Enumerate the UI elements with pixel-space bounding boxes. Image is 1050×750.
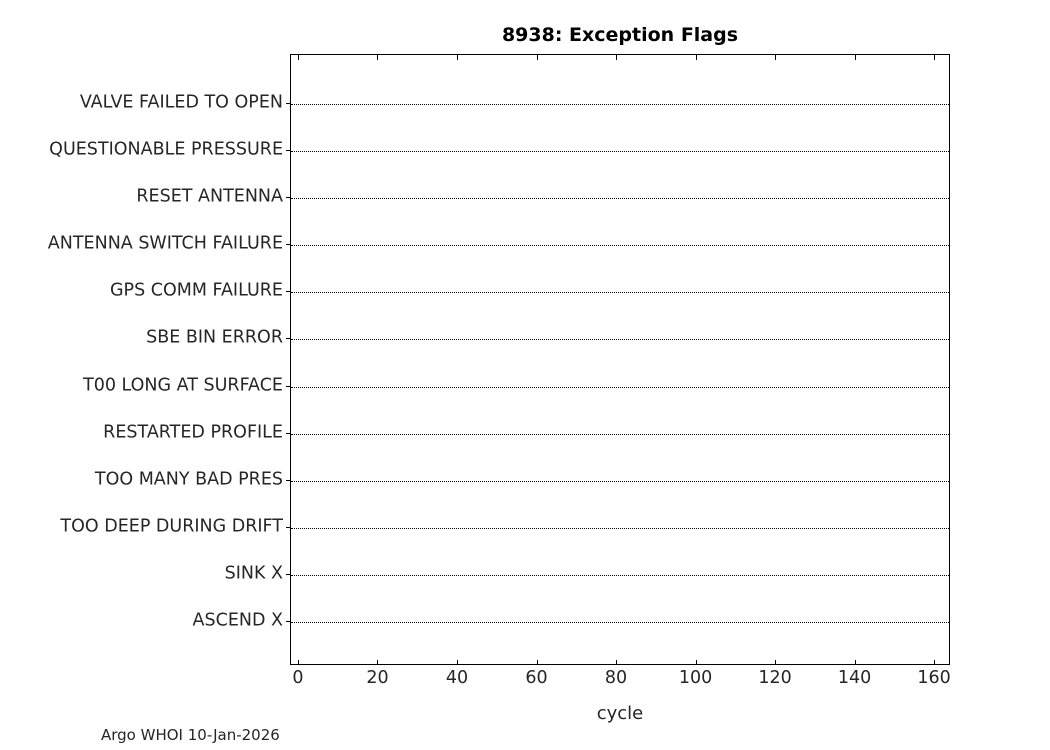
y-axis-tick-mark [286, 197, 290, 198]
y-axis-tick-label: TOO DEEP DURING DRIFT [60, 518, 283, 536]
y-axis-tick-mark [286, 480, 290, 481]
x-axis-tick-label: 80 [605, 670, 627, 688]
x-axis-tick-label: 140 [838, 670, 871, 688]
y-axis-tick-mark [286, 244, 290, 245]
gridline [291, 481, 949, 482]
figure-canvas: 8938: Exception Flags VALVE FAILED TO OP… [0, 0, 1050, 750]
x-axis-tick-mark [934, 660, 935, 665]
gridline [291, 104, 949, 105]
y-axis-tick-label: QUESTIONABLE PRESSURE [49, 141, 283, 159]
y-axis-tick-label: ASCEND X [193, 612, 283, 630]
x-axis-tick-mark [298, 660, 299, 665]
y-axis-tick-mark [286, 527, 290, 528]
x-axis-title: cycle [290, 703, 950, 724]
x-axis-tick-mark [457, 660, 458, 665]
chart-title: 8938: Exception Flags [290, 24, 950, 46]
y-axis-tick-mark [286, 574, 290, 575]
x-axis-tick-mark [855, 660, 856, 665]
x-axis-top-tick-mark [775, 55, 776, 60]
y-axis-tick-label: RESET ANTENNA [136, 188, 283, 206]
y-axis-tick-mark [286, 433, 290, 434]
y-axis-tick-label: ANTENNA SWITCH FAILURE [48, 236, 283, 254]
x-axis-top-tick-mark [696, 55, 697, 60]
y-axis-tick-label: T00 LONG AT SURFACE [83, 377, 283, 395]
y-axis-tick-mark [286, 621, 290, 622]
gridline [291, 198, 949, 199]
y-axis-tick-mark [286, 150, 290, 151]
gridline [291, 151, 949, 152]
x-axis-tick-mark [616, 660, 617, 665]
y-axis-tick-label: VALVE FAILED TO OPEN [80, 94, 283, 112]
y-axis-tick-label: RESTARTED PROFILE [103, 424, 283, 442]
gridline [291, 387, 949, 388]
x-axis-top-tick-mark [616, 55, 617, 60]
x-axis-top-tick-mark [934, 55, 935, 60]
x-axis-top-tick-mark [457, 55, 458, 60]
plot-area[interactable] [290, 54, 950, 665]
y-axis-tick-mark [286, 386, 290, 387]
x-axis-top-tick-mark [855, 55, 856, 60]
x-axis-tick-label: 20 [366, 670, 388, 688]
x-axis-tick-label: 160 [917, 670, 950, 688]
x-axis-top-tick-mark [298, 55, 299, 60]
gridline [291, 575, 949, 576]
gridline [291, 528, 949, 529]
y-axis-tick-mark [286, 103, 290, 104]
x-axis-tick-mark [775, 660, 776, 665]
y-axis-tick-mark [286, 291, 290, 292]
x-axis-tick-label: 100 [679, 670, 712, 688]
x-axis-tick-label: 0 [292, 670, 303, 688]
y-axis-tick-mark [286, 338, 290, 339]
y-axis-tick-label: SINK X [225, 565, 283, 583]
x-axis-tick-mark [537, 660, 538, 665]
x-axis-tick-mark [696, 660, 697, 665]
gridline [291, 622, 949, 623]
x-axis-tick-label: 40 [446, 670, 468, 688]
y-axis-tick-label: SBE BIN ERROR [146, 330, 283, 348]
x-axis-tick-mark [377, 660, 378, 665]
x-axis-tick-label: 120 [758, 670, 791, 688]
gridline [291, 292, 949, 293]
gridline [291, 245, 949, 246]
y-axis-tick-label: TOO MANY BAD PRES [95, 471, 283, 489]
x-axis-tick-label: 60 [525, 670, 547, 688]
gridline [291, 339, 949, 340]
x-axis-top-tick-mark [537, 55, 538, 60]
y-axis-tick-label: GPS COMM FAILURE [110, 283, 283, 301]
x-axis-top-tick-mark [377, 55, 378, 60]
gridline [291, 434, 949, 435]
footer-attribution: Argo WHOI 10-Jan-2026 [101, 726, 280, 744]
